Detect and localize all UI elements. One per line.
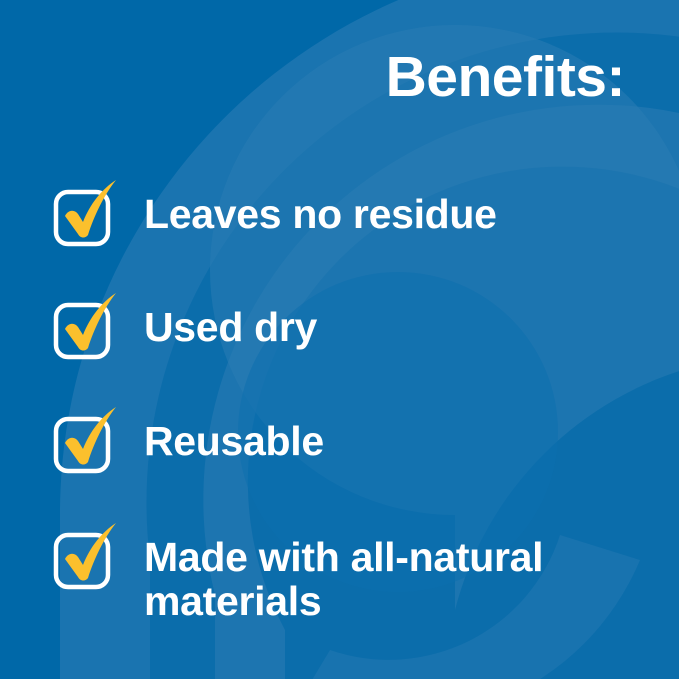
list-item-label: Reusable bbox=[144, 409, 662, 463]
list-item: Made with all-natural materials bbox=[52, 525, 662, 624]
list-item-label: Leaves no residue bbox=[144, 182, 662, 236]
checkbox-checked-icon bbox=[52, 405, 122, 475]
benefits-list: Leaves no residue Used dry bbox=[52, 182, 662, 624]
list-item: Reusable bbox=[52, 409, 662, 475]
checkbox-checked-icon bbox=[52, 521, 122, 591]
page-title: Benefits: bbox=[386, 48, 625, 108]
benefits-poster: Benefits: Leaves no residue bbox=[0, 0, 679, 679]
list-item-label: Used dry bbox=[144, 295, 662, 349]
checkbox-checked-icon bbox=[52, 178, 122, 248]
list-item: Leaves no residue bbox=[52, 182, 662, 248]
list-item: Used dry bbox=[52, 295, 662, 361]
list-item-label: Made with all-natural materials bbox=[144, 525, 662, 624]
checkbox-checked-icon bbox=[52, 291, 122, 361]
